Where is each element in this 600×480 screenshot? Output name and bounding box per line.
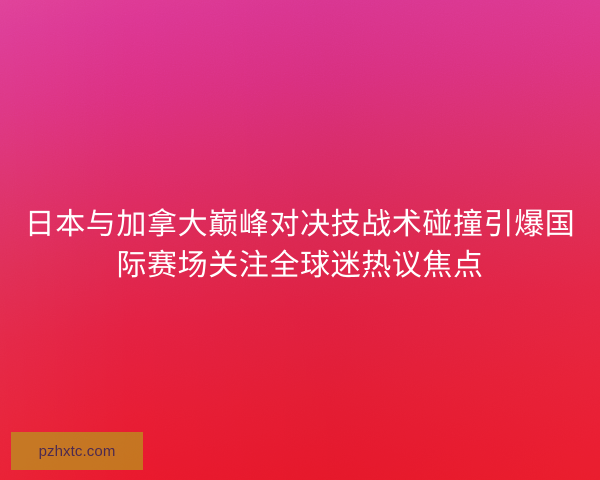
watermark-badge: pzhxtc.com <box>11 432 143 470</box>
page-title: 日本与加拿大巅峰对决技战术碰撞引爆国 际赛场关注全球迷热议焦点 <box>0 204 600 286</box>
headline-line-2: 际赛场关注全球迷热议焦点 <box>18 245 582 286</box>
poster-canvas: 日本与加拿大巅峰对决技战术碰撞引爆国 际赛场关注全球迷热议焦点 pzhxtc.c… <box>0 0 600 480</box>
headline-line-1: 日本与加拿大巅峰对决技战术碰撞引爆国 <box>18 204 582 245</box>
watermark-label: pzhxtc.com <box>39 444 116 459</box>
